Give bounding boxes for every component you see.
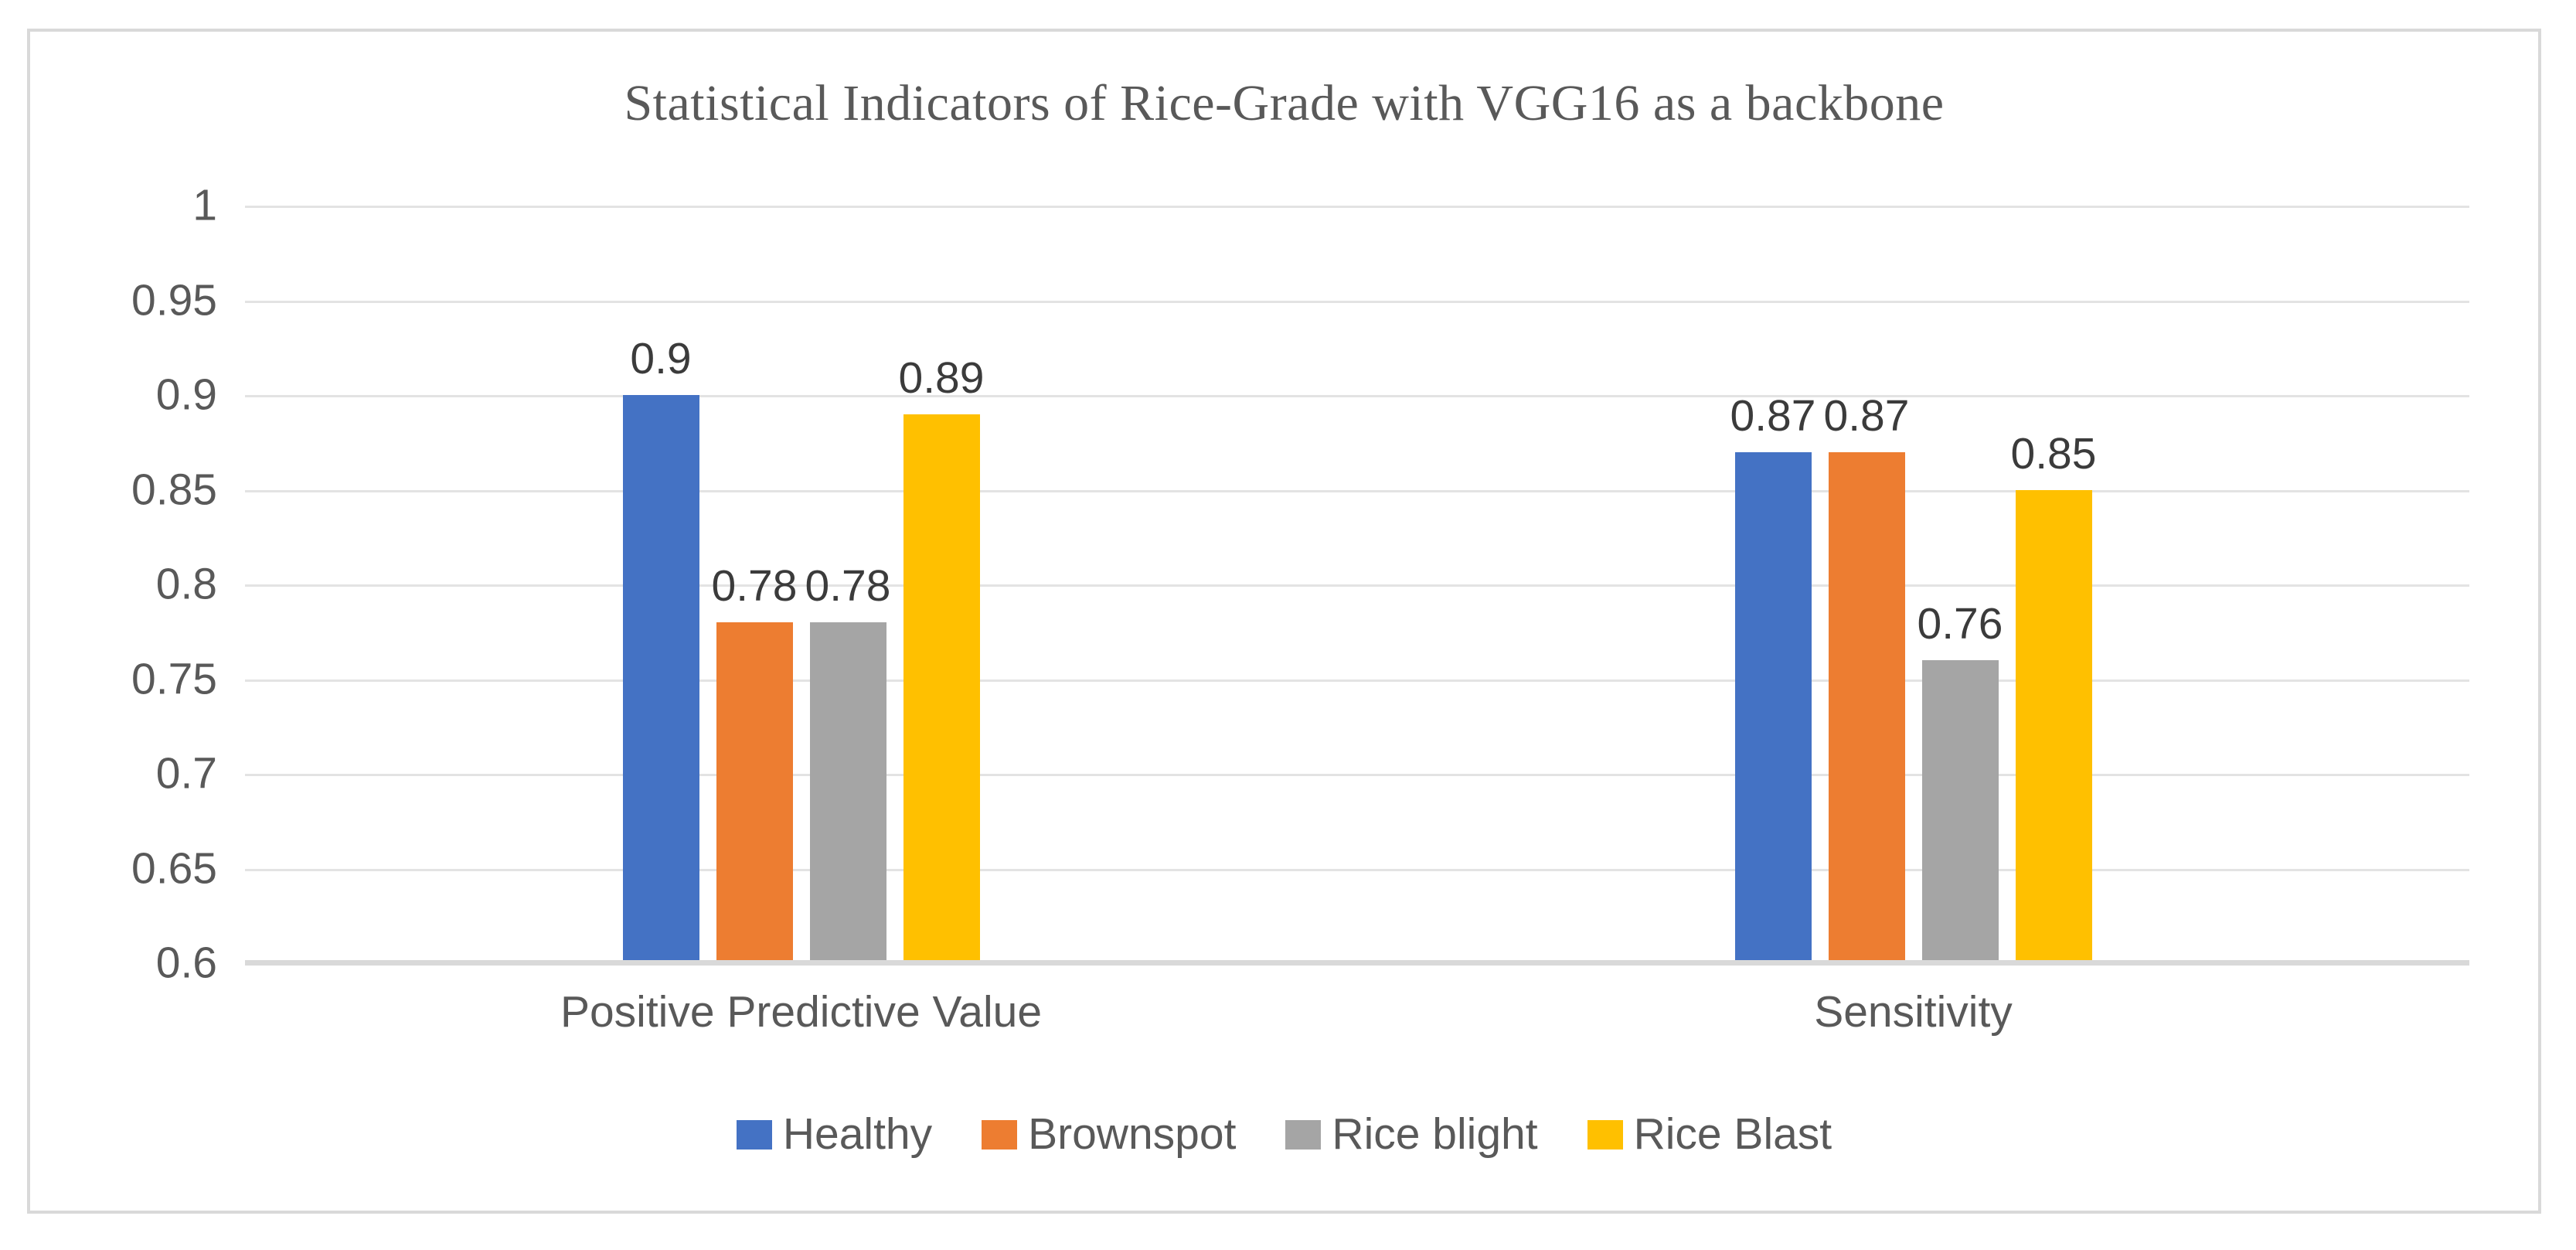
legend-label: Rice Blast [1634,1112,1832,1156]
legend-swatch-icon [737,1120,772,1150]
bar[interactable]: 0.89 [903,414,980,964]
bar[interactable]: 0.76 [1922,660,1999,963]
y-axis-tick-label: 1 [32,184,217,228]
bar[interactable]: 0.78 [716,622,793,963]
chart-legend: HealthyBrownspotRice blightRice Blast [30,1112,2538,1156]
y-axis-tick-label: 0.8 [32,563,217,607]
gridline [245,301,2469,303]
bar-value-label: 0.76 [1918,602,2003,646]
chart-title: Statistical Indicators of Rice-Grade wit… [30,74,2538,133]
gridline [245,584,2469,587]
bar-value-label: 0.9 [630,337,691,381]
y-axis-tick-label: 0.7 [32,752,217,796]
x-axis-category-label: Positive Predictive Value [560,986,1042,1037]
legend-swatch-icon [982,1120,1017,1150]
bar-value-label: 0.87 [1824,394,1910,438]
legend-item[interactable]: Rice Blast [1587,1112,1832,1156]
gridline [245,490,2469,492]
legend-item[interactable]: Brownspot [982,1112,1236,1156]
x-axis-category-label: Sensitivity [1814,986,2013,1037]
chart-frame: Statistical Indicators of Rice-Grade wit… [27,29,2541,1214]
legend-item[interactable]: Healthy [737,1112,932,1156]
bar-value-label: 0.87 [1730,394,1816,438]
gridline [245,869,2469,871]
bar-value-label: 0.78 [712,564,798,608]
legend-swatch-icon [1587,1120,1623,1150]
y-axis-tick-label: 0.95 [32,278,217,322]
bar-value-label: 0.89 [899,356,985,400]
bar[interactable]: 0.78 [810,622,886,963]
gridline [245,395,2469,397]
bar[interactable]: 0.87 [1829,452,1905,964]
x-axis-line [245,960,2469,966]
gridline [245,679,2469,682]
bar[interactable]: 0.85 [2016,490,2092,964]
bar-value-label: 0.78 [805,564,891,608]
y-axis-tick-label: 0.9 [32,373,217,417]
legend-label: Brownspot [1028,1112,1236,1156]
bar[interactable]: 0.87 [1735,452,1812,964]
legend-item[interactable]: Rice blight [1285,1112,1537,1156]
legend-label: Healthy [783,1112,932,1156]
plot-area: 10.950.90.850.80.750.70.650.6 0.90.780.7… [245,206,2469,963]
gridline [245,206,2469,208]
gridline [245,774,2469,776]
y-axis-tick-label: 0.65 [32,846,217,891]
legend-swatch-icon [1285,1120,1321,1150]
y-axis-tick-label: 0.75 [32,657,217,701]
y-axis-tick-label: 0.6 [32,942,217,986]
bar[interactable]: 0.9 [623,395,699,963]
legend-label: Rice blight [1332,1112,1537,1156]
bar-value-label: 0.85 [2011,432,2097,476]
y-axis-tick-label: 0.85 [32,468,217,512]
